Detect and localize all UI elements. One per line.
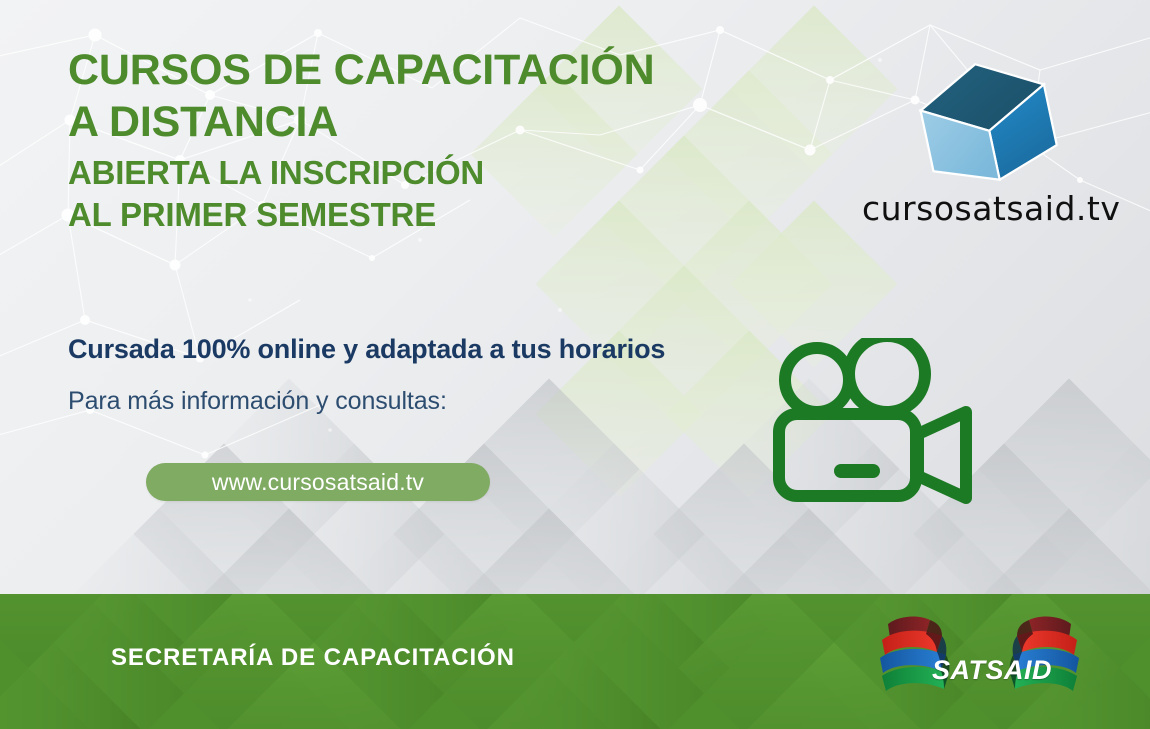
cube-logo-icon xyxy=(902,55,1072,185)
headline-block: CURSOS DE CAPACITACIÓN A DISTANCIA ABIER… xyxy=(68,44,768,236)
headline-line-4: AL PRIMER SEMESTRE xyxy=(68,194,768,236)
website-url-label: www.cursosatsaid.tv xyxy=(212,469,424,496)
headline-line-1: CURSOS DE CAPACITACIÓN xyxy=(68,44,768,96)
brand-logo-block: cursosatsaid.tv xyxy=(862,55,1112,228)
footer-secretariat-label: SECRETARÍA DE CAPACITACIÓN xyxy=(111,644,515,672)
headline-line-2: A DISTANCIA xyxy=(68,96,768,148)
satsaid-wordmark: SATSAID xyxy=(932,655,1052,686)
headline-line-3: ABIERTA LA INSCRIPCIÓN xyxy=(68,152,768,194)
video-camera-icon xyxy=(760,338,980,518)
website-url-pill[interactable]: www.cursosatsaid.tv xyxy=(146,463,490,501)
subtitle-more-info: Para más información y consultas: xyxy=(68,387,447,416)
subtitle-online-schedule: Cursada 100% online y adaptada a tus hor… xyxy=(68,334,665,365)
brand-wordmark: cursosatsaid.tv xyxy=(862,189,1112,228)
promo-banner: CURSOS DE CAPACITACIÓN A DISTANCIA ABIER… xyxy=(0,0,1150,729)
